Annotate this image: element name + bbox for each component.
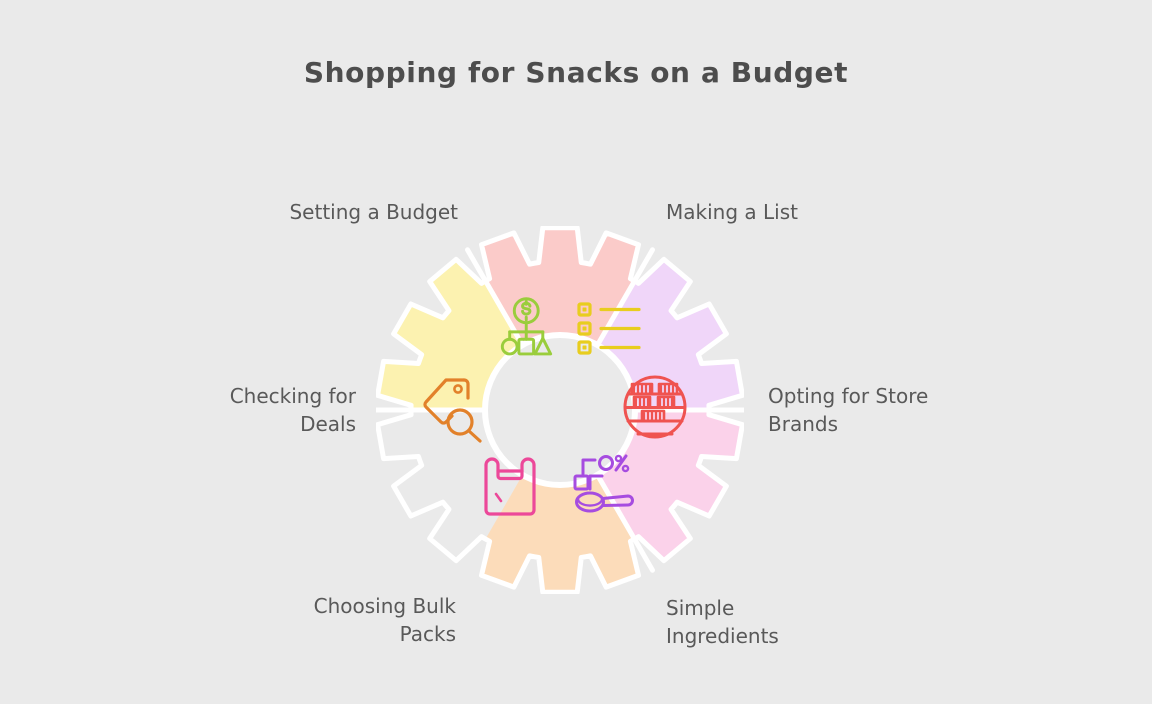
infographic-canvas: Shopping for Snacks on a Budget [0,0,1152,704]
label-simple-ingredients: Simple Ingredients [666,594,946,650]
label-setting-a-budget: Setting a Budget [160,198,458,226]
page-title: Shopping for Snacks on a Budget [0,56,1152,89]
gear-wheel-diagram [376,226,744,594]
label-choosing-bulk-packs: Choosing Bulk Packs [200,592,456,648]
label-opting-for-store-brands: Opting for Store Brands [768,382,1028,438]
label-making-a-list: Making a List [666,198,986,226]
label-checking-for-deals: Checking for Deals [120,382,356,438]
